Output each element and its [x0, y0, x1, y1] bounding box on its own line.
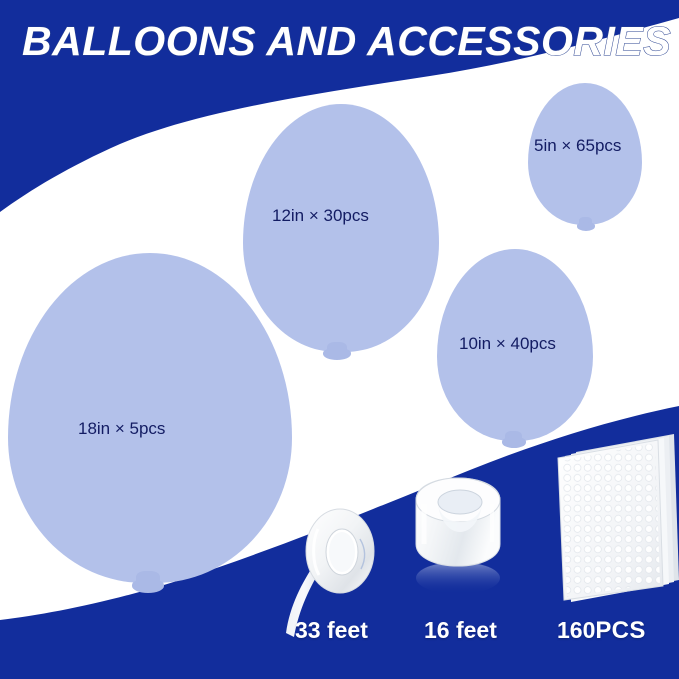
balloon-knot	[502, 437, 526, 448]
balloon-knot	[577, 222, 595, 231]
accessory-label-glue-dots: 160PCS	[557, 617, 646, 645]
balloon-knot	[132, 579, 164, 593]
glue-dots-unit: PCS	[595, 617, 645, 644]
balloon-label-12in: 12in × 30pcs	[272, 206, 369, 226]
accessory-label-tape: 16 feet	[424, 617, 497, 644]
tape-roll-wide-icon	[400, 470, 518, 600]
tape-hole	[438, 490, 482, 514]
glue-dots-count: 160	[557, 617, 595, 643]
roll-hole-shade	[329, 532, 355, 572]
balloon-knot	[323, 348, 351, 360]
tape-reflection	[416, 562, 500, 594]
product-image-canvas: BALLOONS AND ACCESSORIES 18in × 5pcs 12i…	[0, 0, 679, 679]
balloon-label-5in: 5in × 65pcs	[534, 136, 621, 156]
balloon-body	[243, 104, 439, 352]
balloon-label-10in: 10in × 40pcs	[459, 334, 556, 354]
balloon-12in	[243, 104, 439, 352]
page-title: BALLOONS AND ACCESSORIES	[22, 18, 671, 65]
glue-dot-sheet-icon	[552, 432, 679, 602]
accessory-label-ribbon: 33 feet	[295, 617, 368, 644]
balloon-label-18in: 18in × 5pcs	[78, 419, 165, 439]
